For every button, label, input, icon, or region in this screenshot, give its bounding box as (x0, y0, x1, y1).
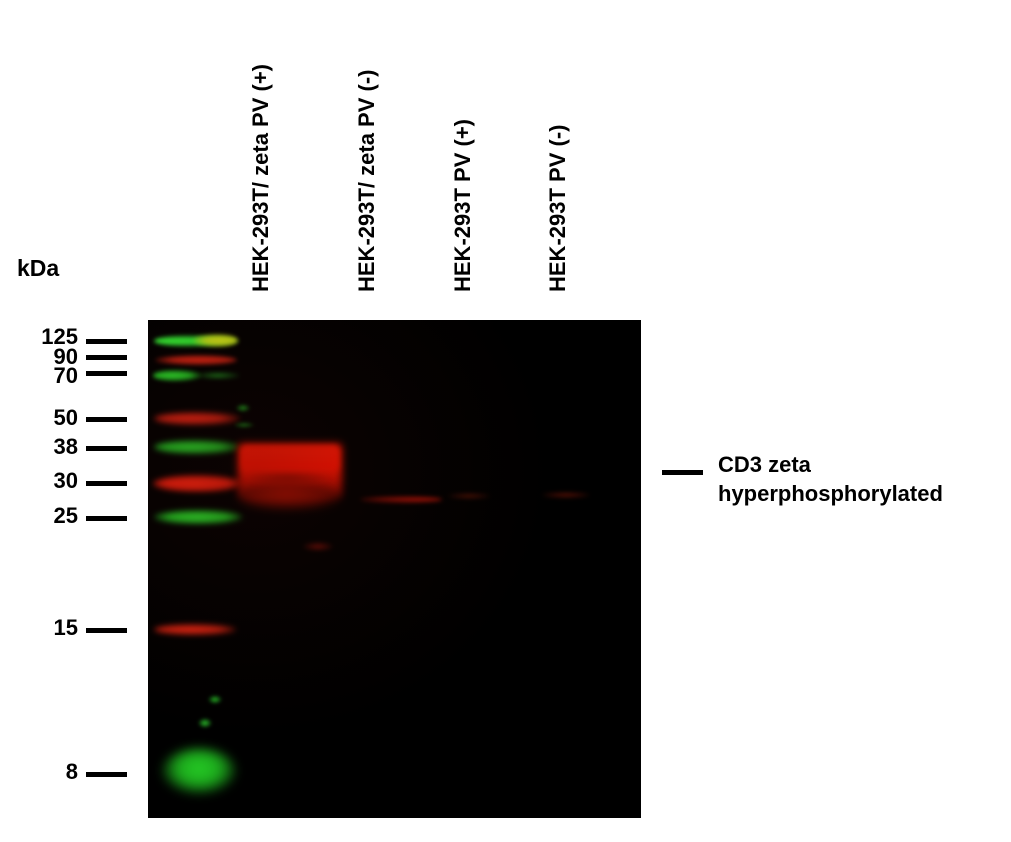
mw-tick-125 (86, 339, 127, 344)
mw-tick-15 (86, 628, 127, 633)
mw-tick-30 (86, 481, 127, 486)
annotation-line-2: hyperphosphorylated (718, 479, 943, 508)
annotation-line-1: CD3 zeta (718, 450, 943, 479)
blot-haze (148, 320, 641, 818)
annotation-tick-cd3-zeta (662, 470, 703, 475)
lane-label-2: HEK-293T/ zeta PV (-) (356, 70, 378, 293)
mw-tick-70 (86, 371, 127, 376)
mw-tick-50 (86, 417, 127, 422)
annotation-cd3-zeta: CD3 zeta hyperphosphorylated (718, 450, 943, 508)
western-blot-figure: kDa HEK-293T/ zeta PV (+) HEK-293T/ zeta… (0, 0, 1011, 842)
mw-tick-90 (86, 355, 127, 360)
mw-label-25: 25 (54, 505, 78, 527)
lane-label-3: HEK-293T PV (+) (452, 119, 474, 292)
mw-label-8: 8 (66, 761, 78, 783)
kda-axis-title: kDa (17, 255, 59, 282)
mw-tick-25 (86, 516, 127, 521)
mw-tick-8 (86, 772, 127, 777)
mw-label-70: 70 (54, 365, 78, 387)
mw-label-38: 38 (54, 436, 78, 458)
mw-label-30: 30 (54, 470, 78, 492)
mw-label-50: 50 (54, 407, 78, 429)
mw-label-15: 15 (54, 617, 78, 639)
blot-image (148, 320, 641, 818)
lane-label-4: HEK-293T PV (-) (547, 125, 569, 292)
mw-tick-38 (86, 446, 127, 451)
lane-label-1: HEK-293T/ zeta PV (+) (250, 64, 272, 292)
